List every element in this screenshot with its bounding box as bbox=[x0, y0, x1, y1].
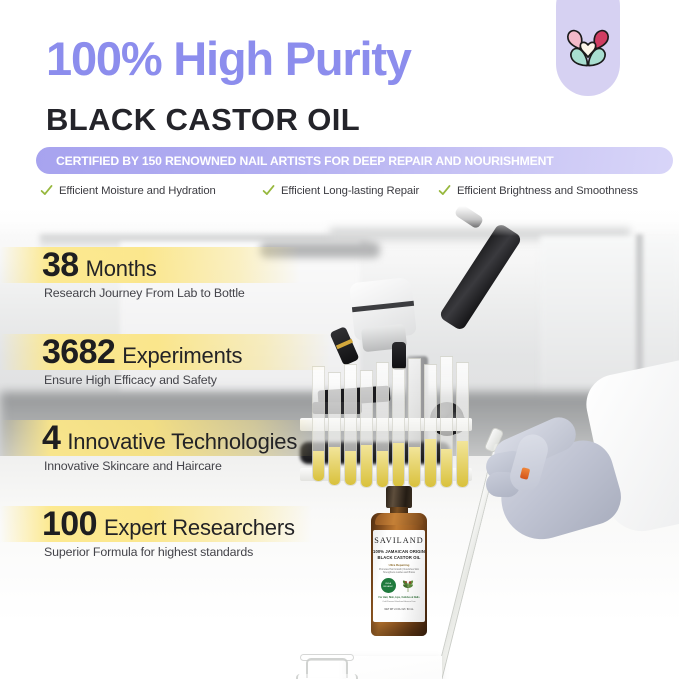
stat-headline: 4 Innovative Technologies bbox=[0, 420, 420, 456]
stat-number: 38 bbox=[42, 247, 79, 283]
page-subtitle: BLACK CASTOR OIL bbox=[46, 104, 360, 135]
product-infographic: SAVILAND 100% JAMAICAN ORIGIN BLACK CAST… bbox=[0, 0, 679, 679]
test-tube bbox=[424, 364, 437, 488]
stat-description: Research Journey From Lab to Bottle bbox=[0, 286, 420, 300]
stat-block: 4 Innovative Technologies Innovative Ski… bbox=[0, 420, 420, 473]
product-claims: For Hair, Skin, Lips, Cuticles & Nails bbox=[378, 596, 419, 599]
check-icon bbox=[262, 184, 275, 197]
stat-block: 3682 Experiments Ensure High Efficacy an… bbox=[0, 334, 420, 387]
stat-description: Innovative Skincare and Haircare bbox=[0, 459, 420, 473]
benefits-row: Efficient Moisture and Hydration Efficie… bbox=[40, 184, 660, 197]
certification-banner-text: CERTIFIED BY 150 RENOWNED NAIL ARTISTS F… bbox=[56, 154, 554, 168]
product-label-line-4: Promotes Hair Growth | Nourishes Skin bbox=[379, 569, 419, 571]
stat-unit: Innovative Technologies bbox=[67, 424, 297, 460]
stat-headline: 38 Months bbox=[0, 247, 420, 283]
benefit-item: Efficient Long-lasting Repair bbox=[262, 184, 438, 197]
test-tube bbox=[456, 362, 469, 488]
product-sub-claims: Cold Pressed Unrefined Hexane Free bbox=[382, 601, 415, 603]
certification-banner: CERTIFIED BY 150 RENOWNED NAIL ARTISTS F… bbox=[36, 147, 673, 174]
bottle-cap bbox=[386, 486, 412, 508]
benefit-item: Efficient Brightness and Smoothness bbox=[438, 184, 638, 197]
castor-plant-illustration-icon bbox=[398, 578, 418, 593]
stat-headline: 100 Expert Researchers bbox=[0, 506, 420, 542]
benefit-label: Efficient Moisture and Hydration bbox=[59, 185, 216, 197]
check-icon bbox=[438, 184, 451, 197]
benefit-label: Efficient Brightness and Smoothness bbox=[457, 185, 638, 197]
heart-flower-logo-icon bbox=[565, 25, 611, 71]
stat-unit: Months bbox=[86, 251, 157, 287]
check-icon bbox=[40, 184, 53, 197]
test-tube bbox=[440, 356, 453, 488]
label-badges: USDA ORGANIC bbox=[381, 578, 418, 593]
stat-number: 3682 bbox=[42, 334, 115, 370]
photo-top-fade bbox=[0, 206, 679, 236]
stat-unit: Experiments bbox=[122, 338, 242, 374]
stat-number: 4 bbox=[42, 420, 60, 456]
product-label-line-5: Strengthens Lashes and Brows bbox=[383, 572, 415, 574]
stat-number: 100 bbox=[42, 506, 97, 542]
brand-logo-badge bbox=[556, 0, 620, 96]
stat-headline: 3682 Experiments bbox=[0, 334, 420, 370]
stat-block: 100 Expert Researchers Superior Formula … bbox=[0, 506, 420, 559]
product-box bbox=[346, 656, 442, 679]
stat-description: Ensure High Efficacy and Safety bbox=[0, 373, 420, 387]
benefit-label: Efficient Long-lasting Repair bbox=[281, 185, 419, 197]
product-volume: NET WT 2.0 FL OZ / 60 mL bbox=[384, 608, 413, 611]
page-title: 100% High Purity bbox=[46, 35, 411, 82]
stat-description: Superior Formula for highest standards bbox=[0, 545, 420, 559]
stat-block: 38 Months Research Journey From Lab to B… bbox=[0, 247, 420, 300]
laboratory-beaker bbox=[296, 674, 358, 679]
benefit-item: Efficient Moisture and Hydration bbox=[40, 184, 262, 197]
seal-text: USDA ORGANIC bbox=[381, 583, 396, 588]
usda-organic-seal-icon: USDA ORGANIC bbox=[381, 578, 396, 593]
stat-unit: Expert Researchers bbox=[104, 510, 295, 546]
product-label-line-3: Ultra Repairing bbox=[389, 563, 410, 567]
